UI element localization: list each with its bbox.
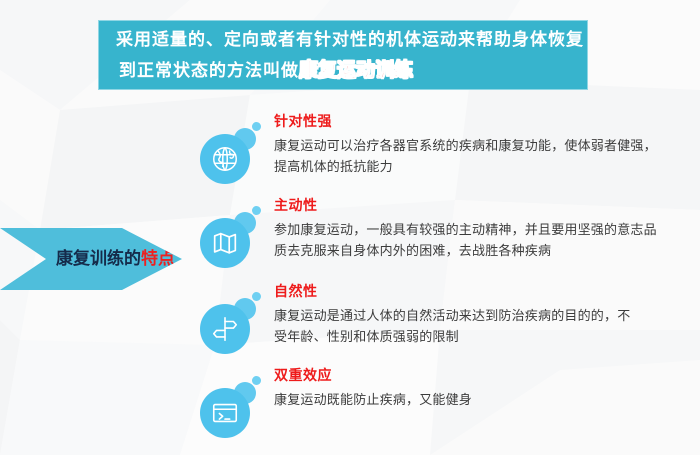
feature-row: 针对性强 康复运动可以治疗各器官系统的疾病和康复功能，使体弱者健强， 提高机体的…	[196, 112, 696, 198]
icon-cluster	[196, 290, 264, 352]
feature-body-line: 康复运动可以治疗各器官系统的疾病和康复功能，使体弱者健强，	[274, 136, 694, 157]
feature-body-line: 提高机体的抵抗能力	[274, 157, 694, 178]
icon-cluster	[196, 120, 264, 182]
feature-text: 双重效应 康复运动既能防止疾病，又能健身	[274, 366, 694, 411]
feature-body-line: 受年龄、性别和体质强弱的限制	[274, 327, 694, 348]
feature-body: 康复运动可以治疗各器官系统的疾病和康复功能，使体弱者健强， 提高机体的抵抗能力	[274, 136, 694, 178]
terminal-icon	[200, 388, 250, 438]
feature-title: 自然性	[274, 282, 694, 302]
signpost-icon	[200, 304, 250, 354]
globe-icon	[200, 134, 250, 184]
bubble-small-decor	[252, 376, 261, 385]
icon-cluster	[196, 374, 264, 436]
header-banner: 采用适量的、定向或者有针对性的机体运动来帮助身体恢复 到正常状态的方法叫做康复运…	[98, 20, 588, 90]
bubble-small-decor	[252, 122, 261, 131]
feature-text: 针对性强 康复运动可以治疗各器官系统的疾病和康复功能，使体弱者健强， 提高机体的…	[274, 112, 694, 178]
header-line-2-prefix: 到正常状态的方法叫做	[119, 61, 299, 81]
feature-body-line: 康复运动既能防止疾病，又能健身	[274, 390, 694, 411]
feature-body-line: 参加康复运动，一般具有较强的主动精神，并且要用坚强的意志品	[274, 220, 694, 241]
feature-body: 康复运动是通过人体的自然活动来达到防治疾病的目的的，不 受年龄、性别和体质强弱的…	[274, 306, 694, 348]
feature-body-line: 质去克服来自身体内外的困难，去战胜各种疾病	[274, 241, 694, 262]
feature-row: 双重效应 康复运动既能防止疾病，又能健身	[196, 366, 696, 452]
feature-body: 康复运动既能防止疾病，又能健身	[274, 390, 694, 411]
bubble-small-decor	[252, 206, 261, 215]
bubble-small-decor	[252, 292, 261, 301]
feature-title: 针对性强	[274, 112, 694, 132]
header-keyword-highlight: 康复运动训练	[299, 59, 413, 81]
feature-row: 主动性 参加康复运动，一般具有较强的主动精神，并且要用坚强的意志品 质去克服来自…	[196, 196, 696, 282]
icon-cluster	[196, 204, 264, 266]
feature-text: 主动性 参加康复运动，一般具有较强的主动精神，并且要用坚强的意志品 质去克服来自…	[274, 196, 694, 262]
feature-title: 双重效应	[274, 366, 694, 386]
feature-title: 主动性	[274, 196, 694, 216]
header-line-1: 采用适量的、定向或者有针对性的机体运动来帮助身体恢复	[99, 25, 587, 55]
feature-row: 自然性 康复运动是通过人体的自然活动来达到防治疾病的目的的，不 受年龄、性别和体…	[196, 282, 696, 368]
feature-body: 参加康复运动，一般具有较强的主动精神，并且要用坚强的意志品 质去克服来自身体内外…	[274, 220, 694, 262]
feature-body-line: 康复运动是通过人体的自然活动来达到防治疾病的目的的，不	[274, 306, 694, 327]
header-line-2: 到正常状态的方法叫做康复运动训练	[99, 55, 587, 86]
feature-text: 自然性 康复运动是通过人体的自然活动来达到防治疾病的目的的，不 受年龄、性别和体…	[274, 282, 694, 348]
ribbon-text-dark: 康复训练的	[56, 249, 141, 269]
map-icon	[200, 218, 250, 268]
